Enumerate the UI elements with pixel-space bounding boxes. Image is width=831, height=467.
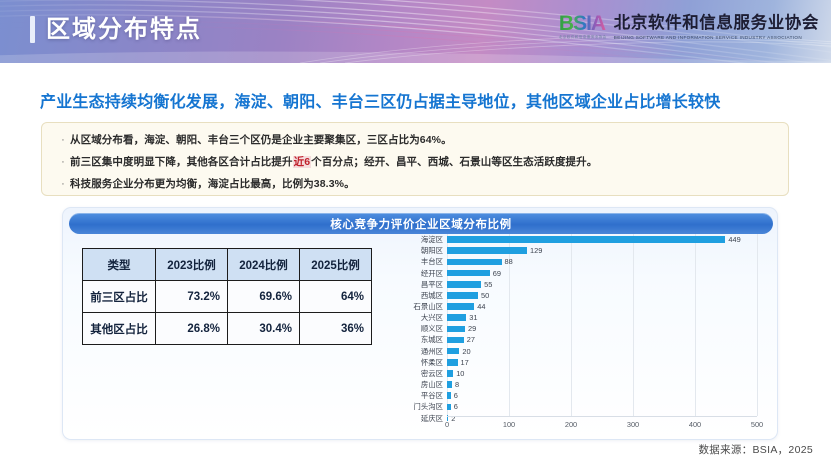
chart-value-label: 8 (455, 379, 459, 390)
chart-value-label: 17 (461, 357, 469, 368)
chart-bar-row: 怀柔区17 (447, 357, 757, 368)
logo-text-group: 北京软件和信息服务业协会 BEIJING SOFTWARE AND INFORM… (614, 14, 819, 41)
chart-bar (447, 370, 453, 377)
chart-x-axis: 0100200300400500 (447, 418, 757, 434)
chart-bar-rows: 海淀区449朝阳区129丰台区88经开区69昌平区55西城区50石景山区44大兴… (447, 234, 757, 416)
chart-category-label: 朝阳区 (421, 245, 443, 256)
data-source-note: 数据来源：BSIA，2025 (699, 442, 814, 457)
table-cell: 64% (300, 281, 372, 313)
bullet-text: 从区域分布看，海淀、朝阳、丰台三个区仍是企业主要聚集区，三区占比为64%。 (70, 132, 452, 148)
chart-bar (447, 259, 502, 266)
chart-category-label: 海淀区 (421, 234, 443, 245)
chart-gridline (757, 234, 758, 416)
chart-value-label: 10 (456, 368, 464, 379)
chart-bar-row: 顺义区29 (447, 323, 757, 334)
chart-category-label: 大兴区 (421, 312, 443, 323)
table-row-label: 其他区占比 (83, 313, 156, 345)
chart-bar (447, 392, 451, 399)
district-bar-chart: 海淀区449朝阳区129丰台区88经开区69昌平区55西城区50石景山区44大兴… (389, 234, 761, 434)
bullet-marker-icon: · (56, 154, 70, 170)
chart-bar (447, 348, 459, 355)
bsia-logo: BSIA 北京软件和信息服务业协会 北京软件和信息服务业协会 BEIJING S… (559, 14, 819, 41)
chart-bar (447, 314, 466, 321)
chart-bar (447, 381, 452, 388)
chart-category-label: 丰台区 (421, 256, 443, 267)
logo-mark-subtext: 北京软件和信息服务业协会 (559, 35, 607, 40)
chart-bar-row: 东城区27 (447, 334, 757, 345)
chart-category-label: 石景山区 (413, 301, 443, 312)
chart-bar (447, 337, 464, 344)
table-row: 前三区占比 73.2% 69.6% 64% (83, 281, 372, 313)
chart-bar-row: 密云区10 (447, 368, 757, 379)
chart-bar-row: 房山区8 (447, 379, 757, 390)
logo-name-cn: 北京软件和信息服务业协会 (614, 14, 819, 33)
chart-bar-row: 通州区20 (447, 346, 757, 357)
bullet-marker-icon: · (56, 132, 70, 148)
bullet-text: 前三区集中度明显下降，其他各区合计占比提升近6个百分点；经开、昌平、西城、石景山… (70, 154, 597, 170)
table-header-cell: 类型 (83, 249, 156, 281)
chart-bar-row: 大兴区31 (447, 312, 757, 323)
table-cell: 73.2% (156, 281, 228, 313)
chart-bar (447, 270, 490, 277)
bullet-text-post: 个百分点；经开、昌平、西城、石景山等区生态活跃度提升。 (311, 156, 597, 168)
chart-bar (447, 326, 465, 333)
chart-x-tick-label: 400 (689, 420, 701, 429)
slide-root: 区域分布特点 BSIA 北京软件和信息服务业协会 北京软件和信息服务业协会 BE… (0, 0, 831, 467)
chart-x-tick-label: 100 (503, 420, 515, 429)
chart-category-label: 西城区 (421, 290, 443, 301)
title-accent-bar (30, 16, 35, 43)
section-headline: 产业生态持续均衡化发展，海淀、朝阳、丰台三区仍占据主导地位，其他区域企业占比增长… (40, 88, 800, 112)
chart-category-label: 东城区 (421, 334, 443, 345)
chart-bar (447, 281, 481, 288)
chart-category-label: 通州区 (421, 346, 443, 357)
table-header-cell: 2025比例 (300, 249, 372, 281)
chart-x-tick-label: 300 (627, 420, 639, 429)
chart-value-label: 31 (469, 312, 477, 323)
chart-value-label: 50 (481, 290, 489, 301)
bullet-text-pre: 从区域分布看，海淀、朝阳、丰台三个区仍是企业主要聚集区，三区占比为64%。 (70, 134, 452, 146)
chart-panel-title: 核心竞争力评价企业区域分布比例 (69, 213, 773, 234)
chart-bar-row: 丰台区88 (447, 256, 757, 267)
chart-value-label: 449 (728, 234, 740, 245)
bullet-highlight: 近6 (293, 156, 312, 168)
logo-acronym: BSIA (559, 14, 607, 34)
chart-value-label: 20 (462, 346, 470, 357)
chart-category-label: 经开区 (421, 268, 443, 279)
header-banner: 区域分布特点 BSIA 北京软件和信息服务业协会 北京软件和信息服务业协会 BE… (0, 0, 831, 63)
chart-bar (447, 292, 478, 299)
bullet-item: · 科技服务企业分布更为均衡，海淀占比最高，比例为38.3%。 (56, 176, 774, 192)
table-row: 其他区占比 26.8% 30.4% 36% (83, 313, 372, 345)
page-title: 区域分布特点 (46, 18, 202, 42)
table-cell: 30.4% (228, 313, 300, 345)
chart-panel: 核心竞争力评价企业区域分布比例 类型 2023比例 2024比例 2025比例 … (62, 207, 778, 440)
bullet-item: · 前三区集中度明显下降，其他各区合计占比提升近6个百分点；经开、昌平、西城、石… (56, 154, 774, 170)
chart-category-label: 昌平区 (421, 279, 443, 290)
chart-category-label: 房山区 (421, 379, 443, 390)
chart-category-label: 门头沟区 (413, 401, 443, 412)
chart-bar-row: 西城区50 (447, 290, 757, 301)
bullet-marker-icon: · (56, 176, 70, 192)
table-row-label: 前三区占比 (83, 281, 156, 313)
bullet-text: 科技服务企业分布更为均衡，海淀占比最高，比例为38.3%。 (70, 176, 355, 192)
chart-bar-row: 平谷区6 (447, 390, 757, 401)
chart-x-tick-label: 0 (445, 420, 449, 429)
ratio-table-wrapper: 类型 2023比例 2024比例 2025比例 前三区占比 73.2% 69.6… (82, 248, 372, 345)
chart-value-label: 88 (505, 256, 513, 267)
logo-name-en: BEIJING SOFTWARE AND INFORMATION SERVICE… (614, 34, 819, 41)
chart-plot-area: 海淀区449朝阳区129丰台区88经开区69昌平区55西城区50石景山区44大兴… (447, 234, 757, 416)
chart-value-label: 129 (530, 245, 542, 256)
chart-bar-row: 朝阳区129 (447, 245, 757, 256)
chart-value-label: 29 (468, 323, 476, 334)
chart-value-label: 69 (493, 268, 501, 279)
ratio-table: 类型 2023比例 2024比例 2025比例 前三区占比 73.2% 69.6… (82, 248, 372, 345)
chart-value-label: 6 (454, 401, 458, 412)
table-cell: 36% (300, 313, 372, 345)
chart-x-tick-label: 500 (751, 420, 763, 429)
chart-category-label: 顺义区 (421, 323, 443, 334)
bullet-callout-box: · 从区域分布看，海淀、朝阳、丰台三个区仍是企业主要聚集区，三区占比为64%。 … (41, 122, 789, 196)
chart-bar-row: 经开区69 (447, 267, 757, 278)
chart-category-label: 怀柔区 (421, 357, 443, 368)
chart-bar (447, 236, 725, 243)
bullet-item: · 从区域分布看，海淀、朝阳、丰台三个区仍是企业主要聚集区，三区占比为64%。 (56, 132, 774, 148)
table-cell: 69.6% (228, 281, 300, 313)
chart-bar-row: 昌平区55 (447, 279, 757, 290)
chart-value-label: 55 (484, 279, 492, 290)
page-title-group: 区域分布特点 (30, 16, 202, 43)
logo-mark-group: BSIA 北京软件和信息服务业协会 (559, 14, 607, 38)
chart-axis-line (447, 416, 757, 417)
chart-category-label: 延庆区 (421, 413, 443, 424)
table-header-cell: 2023比例 (156, 249, 228, 281)
chart-value-label: 44 (477, 301, 485, 312)
chart-category-label: 密云区 (421, 368, 443, 379)
bullet-text-pre: 前三区集中度明显下降，其他各区合计占比提升 (70, 156, 293, 168)
chart-bar-row: 门头沟区6 (447, 401, 757, 412)
chart-value-label: 27 (467, 334, 475, 345)
chart-bar-row: 石景山区44 (447, 301, 757, 312)
chart-bar (447, 359, 458, 366)
chart-bar (447, 303, 474, 310)
chart-bar (447, 247, 527, 254)
chart-bar (447, 404, 451, 411)
chart-bar-row: 海淀区449 (447, 234, 757, 245)
table-cell: 26.8% (156, 313, 228, 345)
table-header-cell: 2024比例 (228, 249, 300, 281)
chart-x-tick-label: 200 (565, 420, 577, 429)
chart-category-label: 平谷区 (421, 390, 443, 401)
bullet-text-pre: 科技服务企业分布更为均衡，海淀占比最高，比例为38.3%。 (70, 178, 355, 190)
chart-value-label: 6 (454, 390, 458, 401)
table-header-row: 类型 2023比例 2024比例 2025比例 (83, 249, 372, 281)
